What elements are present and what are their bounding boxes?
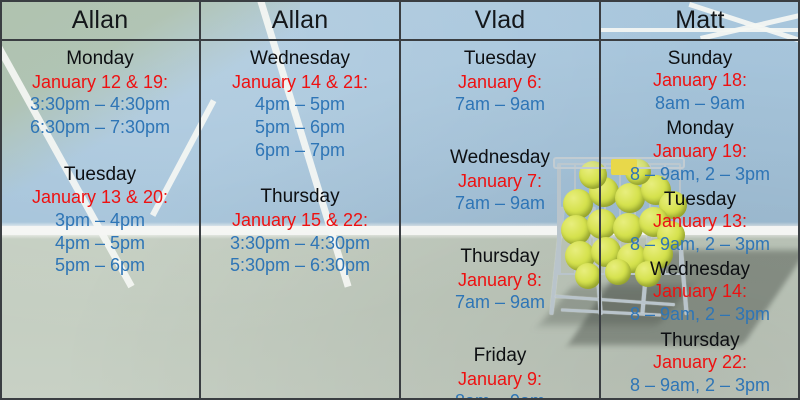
column-divider bbox=[599, 0, 601, 400]
time-slot: 8 – 9am, 2 – 3pm bbox=[600, 303, 800, 325]
column-divider bbox=[199, 0, 201, 400]
time-slot: 8 – 9am, 2 – 3pm bbox=[600, 163, 800, 185]
day-label: Wednesday bbox=[200, 47, 400, 71]
time-slot: 4pm – 5pm bbox=[0, 232, 200, 255]
table-border-top bbox=[0, 0, 800, 2]
time-slot: 3:30pm – 4:30pm bbox=[0, 93, 200, 116]
date-label: January 22: bbox=[600, 352, 800, 374]
schedule-block: Thursday January 8: 7am – 9am bbox=[400, 245, 600, 314]
column-header-coach-1: Allan bbox=[0, 0, 200, 40]
coach-name: Allan bbox=[272, 6, 329, 35]
date-label: January 7: bbox=[400, 170, 600, 193]
day-label: Tuesday bbox=[400, 47, 600, 71]
coach-name: Matt bbox=[675, 6, 724, 35]
day-label: Friday bbox=[400, 344, 600, 368]
date-label: January 9: bbox=[400, 368, 600, 391]
time-slot: 5:30pm – 6:30pm bbox=[200, 254, 400, 277]
day-label: Thursday bbox=[600, 329, 800, 352]
schedule-block: Thursday January 22: 8 – 9am, 2 – 3pm bbox=[600, 329, 800, 396]
coach-name: Allan bbox=[72, 6, 129, 35]
schedule-column-2: Wednesday January 14 & 21: 4pm – 5pm 5pm… bbox=[200, 40, 400, 400]
schedule-block: Monday January 19: 8 – 9am, 2 – 3pm bbox=[600, 117, 800, 184]
time-slot: 8 – 9am, 2 – 3pm bbox=[600, 374, 800, 396]
date-label: January 14 & 21: bbox=[200, 71, 400, 94]
schedule-board: Allan Allan Vlad Matt Monday January 12 … bbox=[0, 0, 800, 400]
time-slot: 8 – 9am, 2 – 3pm bbox=[600, 233, 800, 255]
schedule-block: Sunday January 18: 8am – 9am bbox=[600, 47, 800, 114]
time-slot: 7am – 9am bbox=[400, 93, 600, 116]
time-slot: 7am – 9am bbox=[400, 291, 600, 314]
column-header-coach-2: Allan bbox=[200, 0, 400, 40]
day-label: Thursday bbox=[200, 185, 400, 209]
schedule-block: Tuesday January 13 & 20: 3pm – 4pm 4pm –… bbox=[0, 163, 200, 277]
time-slot: 4pm – 5pm bbox=[200, 93, 400, 116]
day-label: Tuesday bbox=[0, 163, 200, 187]
column-header-coach-3: Vlad bbox=[400, 0, 600, 40]
date-label: January 13 & 20: bbox=[0, 186, 200, 209]
day-label: Monday bbox=[0, 47, 200, 71]
date-label: January 15 & 22: bbox=[200, 209, 400, 232]
time-slot: 5pm – 6pm bbox=[0, 254, 200, 277]
date-label: January 13: bbox=[600, 211, 800, 233]
date-label: January 18: bbox=[600, 70, 800, 92]
schedule-block: Tuesday January 13: 8 – 9am, 2 – 3pm bbox=[600, 188, 800, 255]
day-label: Wednesday bbox=[600, 258, 800, 281]
day-label: Sunday bbox=[600, 47, 800, 70]
table-border-left bbox=[0, 0, 2, 400]
date-label: January 6: bbox=[400, 71, 600, 94]
schedule-block: Monday January 12 & 19: 3:30pm – 4:30pm … bbox=[0, 47, 200, 139]
schedule-column-1: Monday January 12 & 19: 3:30pm – 4:30pm … bbox=[0, 40, 200, 400]
column-divider bbox=[399, 0, 401, 400]
schedule-block: Thursday January 15 & 22: 3:30pm – 4:30p… bbox=[200, 185, 400, 277]
schedule-block: Tuesday January 6: 7am – 9am bbox=[400, 47, 600, 116]
day-label: Monday bbox=[600, 117, 800, 140]
schedule-block: Wednesday January 14 & 21: 4pm – 5pm 5pm… bbox=[200, 47, 400, 161]
time-slot: 7am – 9am bbox=[400, 192, 600, 215]
header-divider bbox=[0, 39, 800, 41]
date-label: January 19: bbox=[600, 141, 800, 163]
time-slot: 5pm – 6pm bbox=[200, 116, 400, 139]
time-slot: 3:30pm – 4:30pm bbox=[200, 232, 400, 255]
day-label: Thursday bbox=[400, 245, 600, 269]
schedule-column-3: Tuesday January 6: 7am – 9am Wednesday J… bbox=[400, 40, 600, 400]
day-label: Wednesday bbox=[400, 146, 600, 170]
column-header-coach-4: Matt bbox=[600, 0, 800, 40]
time-slot: 8am – 9am bbox=[600, 92, 800, 114]
time-slot: 6pm – 7pm bbox=[200, 139, 400, 162]
date-label: January 12 & 19: bbox=[0, 71, 200, 94]
schedule-column-4: Sunday January 18: 8am – 9am Monday Janu… bbox=[600, 40, 800, 400]
schedule-block: Wednesday January 7: 7am – 9am bbox=[400, 146, 600, 215]
date-label: January 8: bbox=[400, 269, 600, 292]
time-slot: 3pm – 4pm bbox=[0, 209, 200, 232]
coach-name: Vlad bbox=[475, 6, 526, 35]
schedule-block: Friday January 9: 8am – 9am bbox=[400, 344, 600, 400]
date-label: January 14: bbox=[600, 281, 800, 303]
time-slot: 6:30pm – 7:30pm bbox=[0, 116, 200, 139]
schedule-block: Wednesday January 14: 8 – 9am, 2 – 3pm bbox=[600, 258, 800, 325]
day-label: Tuesday bbox=[600, 188, 800, 211]
